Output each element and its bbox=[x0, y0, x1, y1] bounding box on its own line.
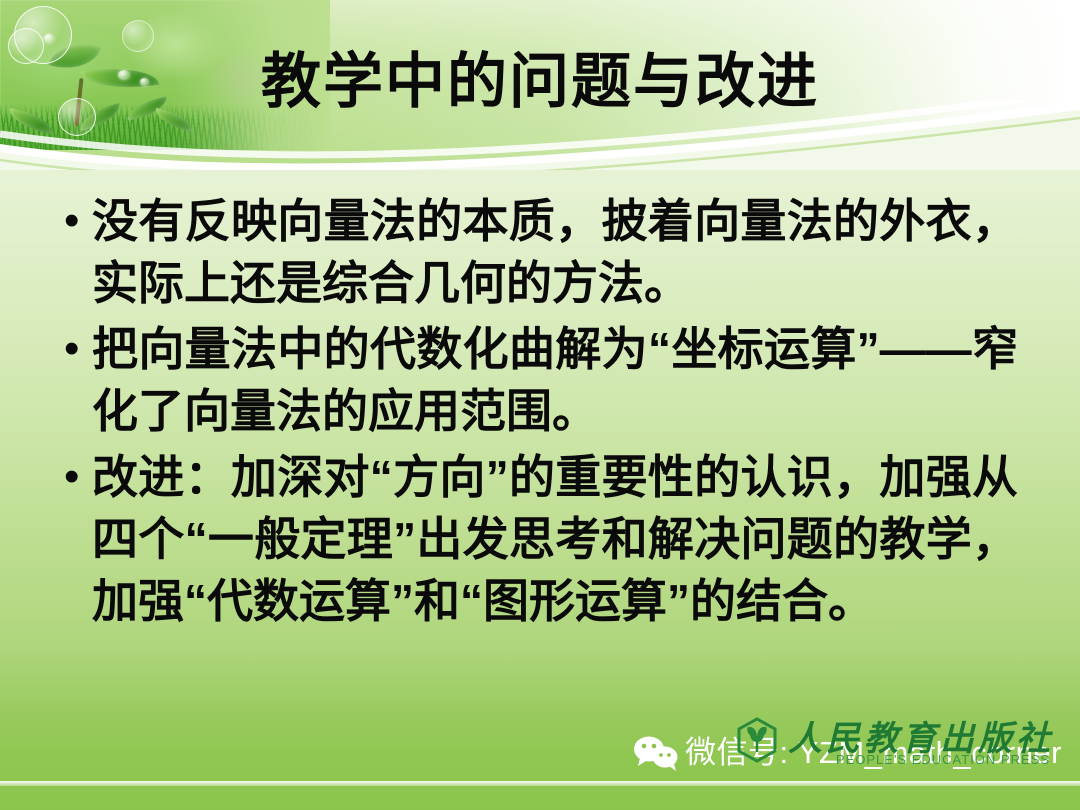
wechat-icon bbox=[633, 735, 679, 771]
bullet-item: • 改进：加深对“方向”的重要性的认识，加强从四个“一般定理”出发思考和解决问题… bbox=[58, 446, 1018, 632]
footer-divider-line bbox=[0, 781, 1080, 786]
bullet-text: 把向量法中的代数化曲解为“坐标运算”——窄化了向量法的应用范围。 bbox=[92, 318, 1018, 442]
bullet-item: • 没有反映向量法的本质，披着向量法的外衣，实际上还是综合几何的方法。 bbox=[58, 190, 1018, 314]
bullet-text: 没有反映向量法的本质，披着向量法的外衣，实际上还是综合几何的方法。 bbox=[92, 190, 1018, 314]
bullet-item: • 把向量法中的代数化曲解为“坐标运算”——窄化了向量法的应用范围。 bbox=[58, 318, 1018, 442]
bullet-marker-icon: • bbox=[58, 318, 92, 380]
slide-body: • 没有反映向量法的本质，披着向量法的外衣，实际上还是综合几何的方法。 • 把向… bbox=[58, 190, 1018, 636]
presentation-slide: 教学中的问题与改进 • 没有反映向量法的本质，披着向量法的外衣，实际上还是综合几… bbox=[0, 0, 1080, 810]
page-title: 教学中的问题与改进 bbox=[0, 46, 1080, 118]
bullet-marker-icon: • bbox=[58, 446, 92, 508]
publisher-subtitle-label: PEOPLE'S EDUCATION PRESS bbox=[836, 752, 1050, 767]
bullet-marker-icon: • bbox=[58, 190, 92, 252]
bullet-text: 改进：加深对“方向”的重要性的认识，加强从四个“一般定理”出发思考和解决问题的教… bbox=[92, 446, 1018, 632]
